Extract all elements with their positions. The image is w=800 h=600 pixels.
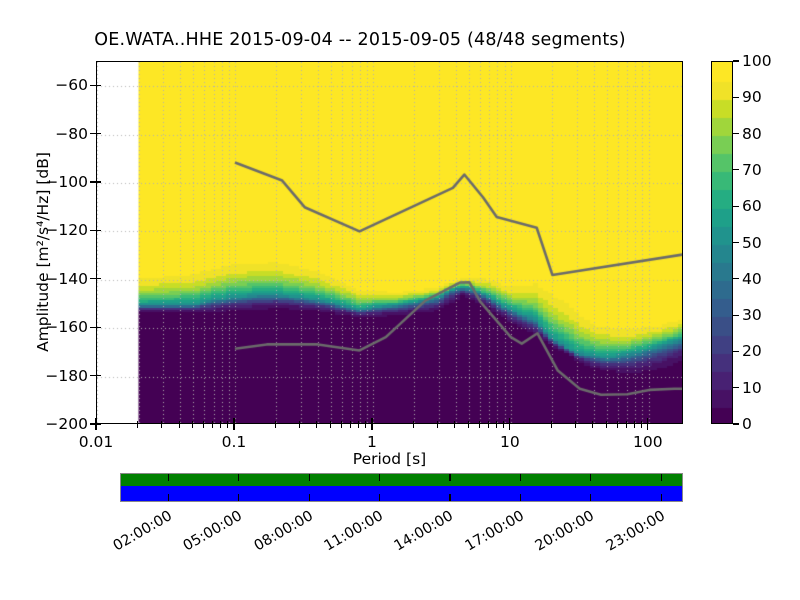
colorbar-tick-mark [733, 206, 739, 207]
data-coverage-timeline[interactable] [120, 473, 683, 502]
colorbar-tick-label: 10 [742, 379, 762, 397]
x-tick-mark-inner [509, 418, 510, 424]
timeline-tick [168, 474, 169, 481]
x-tick-minor [454, 424, 455, 428]
x-tick-minor [413, 424, 414, 428]
x-tick-minor-inner [341, 421, 342, 425]
colorbar-tick-mark [733, 278, 739, 279]
x-tick-minor-inner [137, 421, 138, 425]
y-tick-mark-inner [96, 327, 101, 328]
colorbar-gradient [712, 62, 733, 424]
x-tick-minor [358, 424, 359, 428]
x-axis-label: Period [s] [96, 450, 683, 468]
x-tick-minor [617, 424, 618, 428]
x-tick-minor [641, 424, 642, 428]
x-tick-minor [634, 424, 635, 428]
y-tick-mark-inner [96, 278, 101, 279]
colorbar-tick-label: 20 [742, 342, 762, 360]
x-tick-minor-inner [316, 421, 317, 425]
x-tick-minor-inner [192, 421, 193, 425]
y-tick-mark-inner [96, 230, 101, 231]
x-tick-minor-inner [358, 421, 359, 425]
x-tick-minor [179, 424, 180, 428]
timeline-tick-bottom [168, 494, 169, 501]
x-tick-mark [95, 424, 96, 430]
timeline-tick [661, 474, 662, 481]
timeline-tick-bottom [238, 494, 239, 501]
x-tick-minor [437, 424, 438, 428]
colorbar-tick-label: 60 [742, 197, 762, 215]
timeline-tick-bottom [379, 494, 380, 501]
x-tick-minor-inner [503, 421, 504, 425]
timeline-tick-label: 05:00:00 [170, 508, 246, 561]
timeline-tick-bottom [661, 494, 662, 501]
x-tick-minor-inner [468, 421, 469, 425]
x-tick-mark-inner [233, 418, 234, 424]
timeline-tick-label: 20:00:00 [522, 508, 598, 561]
x-tick-label: 0.01 [79, 433, 114, 451]
timeline-tick [590, 474, 591, 481]
x-tick-minor-inner [496, 421, 497, 425]
colorbar-tick-label: 80 [742, 125, 762, 143]
y-tick-label: −60 [55, 76, 88, 94]
x-tick-minor [161, 424, 162, 428]
colorbar-tick-label: 100 [742, 52, 772, 70]
x-tick-minor-inner [479, 421, 480, 425]
x-tick-minor [551, 424, 552, 428]
x-tick-minor-inner [220, 421, 221, 425]
x-tick-minor-inner [575, 421, 576, 425]
coverage-band-bottom [121, 486, 682, 501]
x-tick-minor-inner [551, 421, 552, 425]
x-tick-minor [299, 424, 300, 428]
x-tick-mark [647, 424, 648, 430]
x-tick-minor [606, 424, 607, 428]
x-tick-minor [275, 424, 276, 428]
colorbar-tick-label: 70 [742, 161, 762, 179]
figure-title: OE.WATA..HHE 2015-09-04 -- 2015-09-05 (4… [0, 30, 720, 50]
x-tick-minor-inner [634, 421, 635, 425]
x-tick-minor-inner [227, 421, 228, 425]
x-tick-minor [626, 424, 627, 428]
x-tick-minor-inner [488, 421, 489, 425]
x-tick-minor [341, 424, 342, 428]
y-tick-mark-inner [96, 423, 101, 424]
x-tick-minor [137, 424, 138, 428]
y-tick-mark-inner [96, 375, 101, 376]
ppsd-plot-area[interactable] [96, 61, 683, 424]
timeline-tick-label: 02:00:00 [99, 508, 175, 561]
colorbar-tick-label: 40 [742, 270, 762, 288]
x-tick-minor-inner [626, 421, 627, 425]
x-tick-minor [220, 424, 221, 428]
x-tick-minor [227, 424, 228, 428]
colorbar-tick-label: 0 [742, 415, 752, 433]
x-tick-minor-inner [203, 421, 204, 425]
x-tick-minor [503, 424, 504, 428]
timeline-tick [520, 474, 521, 481]
x-tick-mark [509, 424, 510, 430]
timeline-tick-label: 23:00:00 [592, 508, 668, 561]
colorbar-tick-mark [733, 133, 739, 134]
y-tick-mark-inner [96, 133, 101, 134]
y-tick-mark-inner [96, 181, 101, 182]
x-tick-minor-inner [641, 421, 642, 425]
x-tick-minor-inner [299, 421, 300, 425]
x-tick-minor [203, 424, 204, 428]
timeline-tick-bottom [520, 494, 521, 501]
x-tick-mark-inner [371, 418, 372, 424]
x-tick-mark [371, 424, 372, 430]
x-tick-label: 1 [367, 433, 377, 451]
ppsd-histogram [97, 62, 683, 424]
x-tick-minor [350, 424, 351, 428]
timeline-tick-label: 08:00:00 [240, 508, 316, 561]
x-tick-minor [575, 424, 576, 428]
timeline-tick [238, 474, 239, 481]
x-tick-label: 0.1 [222, 433, 247, 451]
timeline-tick [379, 474, 380, 481]
x-tick-minor [316, 424, 317, 428]
x-tick-minor-inner [413, 421, 414, 425]
x-tick-minor [488, 424, 489, 428]
timeline-tick-label: 17:00:00 [451, 508, 527, 561]
y-axis-label-text: Amplitude [m²/s⁴/Hz] [dB] [34, 152, 52, 352]
timeline-tick-label: 14:00:00 [381, 508, 457, 561]
x-tick-minor-inner [454, 421, 455, 425]
x-tick-minor-inner [179, 421, 180, 425]
y-axis-label: Amplitude [m²/s⁴/Hz] [dB] [34, 67, 52, 437]
x-tick-minor [330, 424, 331, 428]
x-tick-minor-inner [161, 421, 162, 425]
x-tick-minor [192, 424, 193, 428]
x-tick-label: 10 [500, 433, 520, 451]
x-tick-minor-inner [592, 421, 593, 425]
y-tick-mark-inner [96, 85, 101, 86]
x-tick-minor [365, 424, 366, 428]
timeline-tick-bottom [309, 494, 310, 501]
x-tick-label: 100 [633, 433, 663, 451]
x-tick-minor-inner [212, 421, 213, 425]
x-tick-minor-inner [437, 421, 438, 425]
colorbar-tick-mark [733, 97, 739, 98]
x-tick-minor [496, 424, 497, 428]
ppsd-figure: OE.WATA..HHE 2015-09-04 -- 2015-09-05 (4… [0, 0, 800, 600]
x-tick-minor-inner [330, 421, 331, 425]
colorbar-tick-mark [733, 387, 739, 388]
x-tick-mark [233, 424, 234, 430]
x-tick-minor-inner [617, 421, 618, 425]
x-tick-minor [468, 424, 469, 428]
x-tick-minor-inner [365, 421, 366, 425]
x-tick-minor [592, 424, 593, 428]
x-tick-minor-inner [275, 421, 276, 425]
x-tick-minor-inner [606, 421, 607, 425]
colorbar-tick-label: 50 [742, 234, 762, 252]
coverage-band-top [121, 474, 682, 486]
x-tick-mark-inner [647, 418, 648, 424]
colorbar-tick-mark [733, 60, 739, 61]
colorbar-tick-label: 90 [742, 88, 762, 106]
colorbar-tick-mark [733, 242, 739, 243]
x-tick-mark-inner [95, 418, 96, 424]
x-tick-minor [479, 424, 480, 428]
colorbar[interactable] [711, 61, 733, 424]
timeline-tick-bottom [590, 494, 591, 501]
x-tick-minor-inner [350, 421, 351, 425]
colorbar-tick-mark [733, 351, 739, 352]
timeline-tick [309, 474, 310, 481]
timeline-tick-label: 11:00:00 [310, 508, 386, 561]
timeline-tick-bottom [449, 494, 450, 501]
colorbar-tick-mark [733, 315, 739, 316]
colorbar-tick-mark [733, 169, 739, 170]
colorbar-tick-mark [733, 423, 739, 424]
timeline-tick [449, 474, 450, 481]
y-tick-label: −80 [55, 125, 88, 143]
colorbar-tick-label: 30 [742, 306, 762, 324]
x-tick-minor [212, 424, 213, 428]
